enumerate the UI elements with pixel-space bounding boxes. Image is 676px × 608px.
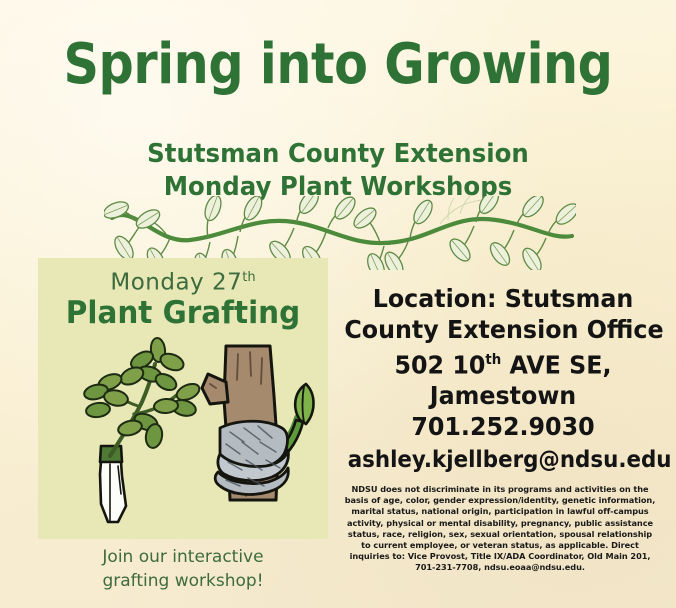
page-title: Spring into Growing bbox=[41, 34, 636, 96]
phone-number[interactable]: 701.252.9030 bbox=[344, 411, 661, 442]
grafted-scion-cutting-illustration bbox=[83, 337, 202, 522]
disclaimer-line-7: inquiries to: Vice Provost, Title IX/ADA… bbox=[340, 551, 660, 562]
card-footnote: Join our interactive grafting workshop! bbox=[38, 545, 328, 593]
subtitle-block: Stutsman County Extension Monday Plant W… bbox=[20, 138, 655, 204]
street-address: 502 10th AVE SE, bbox=[344, 345, 661, 380]
contact-email[interactable]: ashley.kjellberg@ndsu.edu bbox=[348, 446, 659, 474]
card-footnote-line-1: Join our interactive bbox=[38, 545, 328, 569]
grafting-illustration-group bbox=[38, 336, 328, 536]
event-date-text: Monday 27 bbox=[110, 270, 242, 296]
bandaged-tree-stump-graft-illustration bbox=[202, 346, 314, 500]
event-date: Monday 27th bbox=[38, 264, 328, 297]
disclaimer-line-6: to current employee, or veteran status, … bbox=[340, 540, 660, 551]
event-date-ordinal: th bbox=[242, 270, 255, 285]
event-card: Monday 27th Plant Grafting bbox=[38, 258, 328, 539]
disclaimer-line-8: 701-231-7708, ndsu.eoaa@ndsu.edu. bbox=[340, 562, 660, 573]
street-address-rest: AVE SE, bbox=[501, 350, 611, 379]
location-info-block: Location: Stutsman County Extension Offi… bbox=[344, 283, 661, 442]
city-name: Jamestown bbox=[344, 380, 661, 411]
disclaimer-line-3: marital status, national origin, partici… bbox=[340, 506, 660, 517]
street-address-ordinal: th bbox=[485, 352, 501, 368]
subtitle-line-1: Stutsman County Extension bbox=[20, 138, 655, 171]
disclaimer-line-5: status, race, religion, sex, sexual orie… bbox=[340, 529, 660, 540]
nondiscrimination-disclaimer: NDSU does not discriminate in its progra… bbox=[340, 484, 660, 574]
disclaimer-line-2: basis of age, color, gender expression/i… bbox=[340, 495, 660, 506]
event-topic: Plant Grafting bbox=[45, 294, 321, 332]
poster-canvas: Spring into Growing Stutsman County Exte… bbox=[0, 0, 676, 608]
location-line-1: Location: Stutsman bbox=[344, 283, 661, 314]
location-line-2: County Extension Office bbox=[344, 314, 661, 345]
disclaimer-line-4: activity, physical or mental disability,… bbox=[340, 518, 660, 529]
street-address-number: 502 10 bbox=[394, 350, 485, 379]
disclaimer-line-1: NDSU does not discriminate in its progra… bbox=[340, 484, 660, 495]
card-footnote-line-2: grafting workshop! bbox=[38, 569, 328, 593]
